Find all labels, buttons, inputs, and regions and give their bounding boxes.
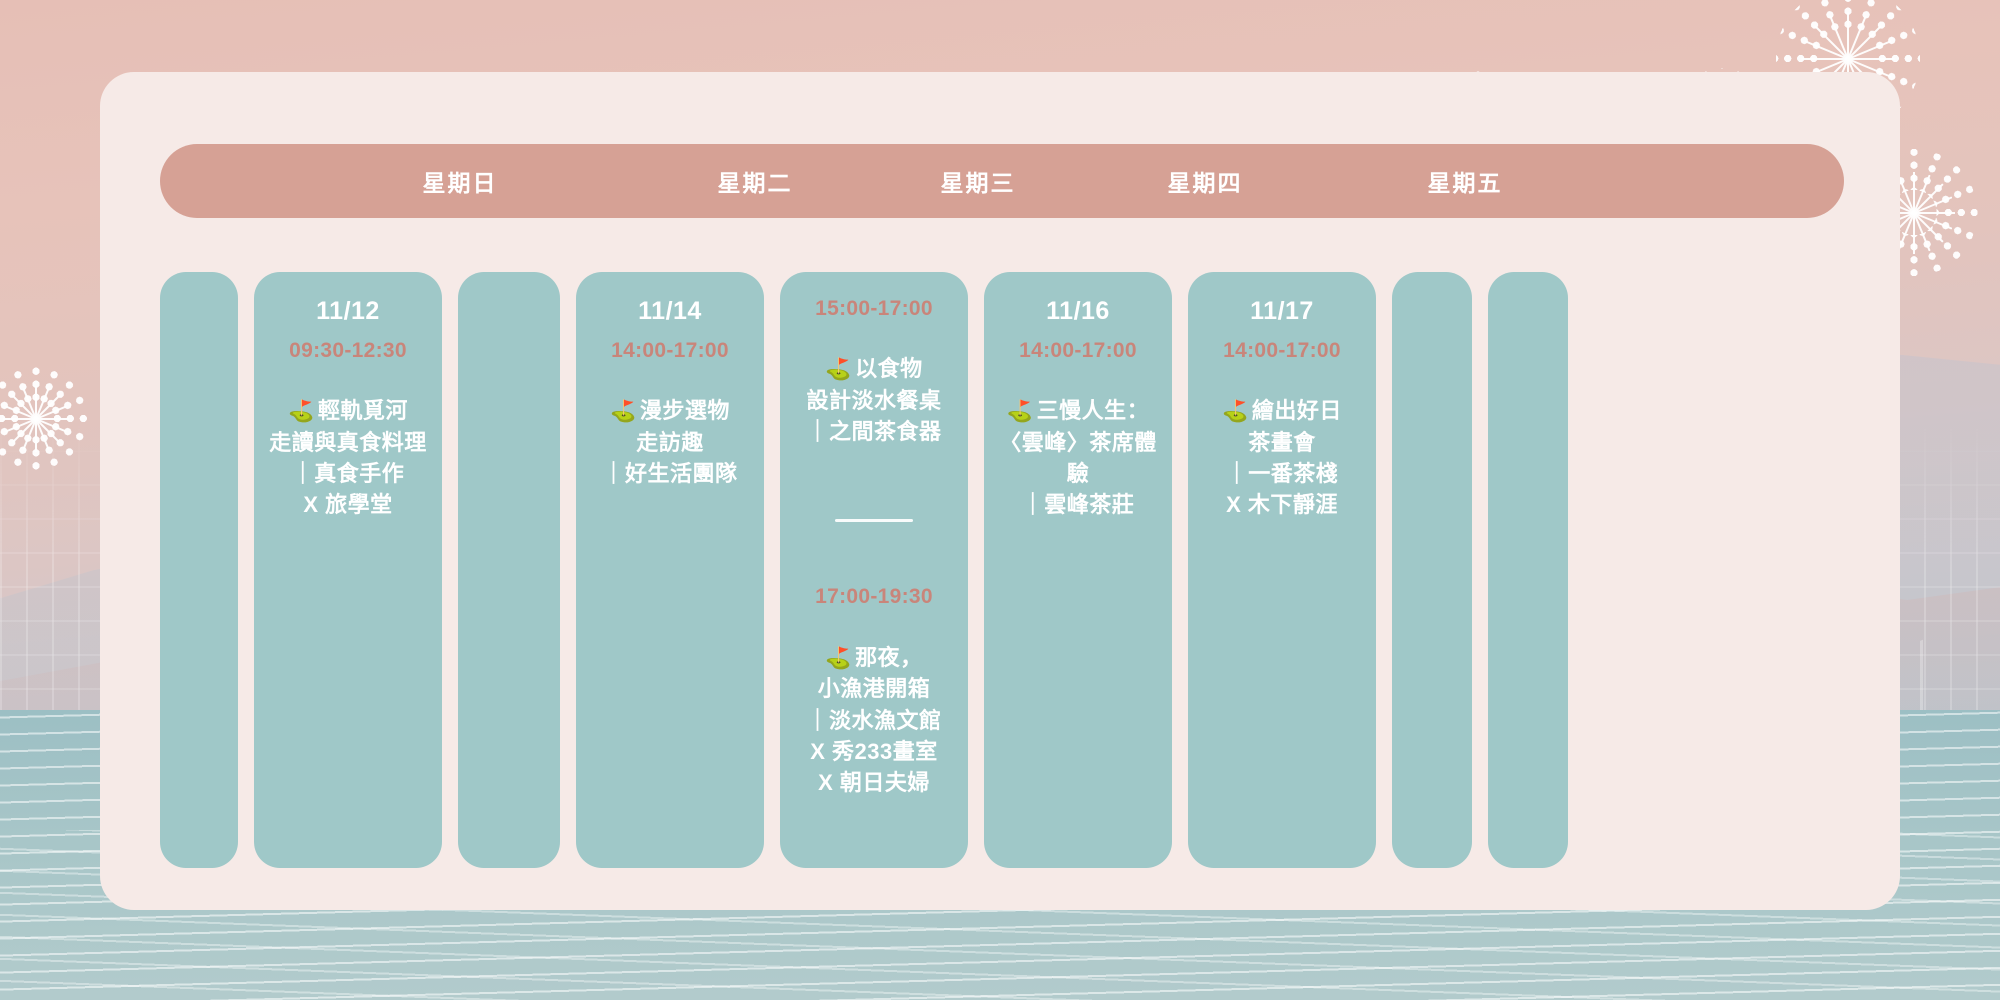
col-friday: 11/1714:00-17:00⛳繪出好日 茶畫會 ｜一番茶棧 X 木下靜涯	[1188, 272, 1376, 868]
event-title: ⛳輕軌覓河 走讀與真食料理 ｜真食手作 X 旅學堂	[264, 395, 432, 521]
event-item[interactable]: 15:00-17:00⛳以食物 設計淡水餐桌 ｜之間茶食器	[790, 296, 958, 447]
day-card-2[interactable]	[458, 272, 560, 868]
event-time: 17:00-19:30	[790, 584, 958, 609]
event-divider	[835, 519, 913, 522]
card-date: 11/17	[1198, 296, 1366, 326]
col-wednesday: 15:00-17:00⛳以食物 設計淡水餐桌 ｜之間茶食器17:00-19:30…	[780, 272, 968, 868]
event-time: 14:00-17:00	[994, 338, 1162, 363]
card-date: 11/14	[586, 296, 754, 326]
card-date: 11/12	[264, 296, 432, 326]
col-spacer-left	[160, 272, 238, 868]
golf-flag-icon: ⛳	[1007, 400, 1034, 423]
event-title: ⛳那夜， 小漁港開箱 ｜淡水漁文館 X 秀233畫室 X 朝日夫婦	[790, 642, 958, 799]
weekday-label-1: 星期二	[640, 144, 870, 218]
col-sunday: 11/1209:30-12:30⛳輕軌覓河 走讀與真食料理 ｜真食手作 X 旅學…	[254, 272, 442, 868]
weekday-label-3: 星期四	[1105, 144, 1305, 218]
day-card-8[interactable]	[1488, 272, 1568, 868]
golf-flag-icon: ⛳	[825, 647, 852, 670]
golf-flag-icon: ⛳	[610, 400, 637, 423]
event-title: ⛳三慢人生： 〈雲峰〉茶席體驗 ｜雲峰茶莊	[994, 395, 1162, 521]
day-card-0[interactable]	[160, 272, 238, 868]
day-card-4[interactable]: 15:00-17:00⛳以食物 設計淡水餐桌 ｜之間茶食器17:00-19:30…	[780, 272, 968, 868]
weekday-header-bar: 星期日星期二星期三星期四星期五	[160, 144, 1844, 218]
event-title: ⛳以食物 設計淡水餐桌 ｜之間茶食器	[790, 353, 958, 447]
weekday-label-0: 星期日	[340, 144, 580, 218]
golf-flag-icon: ⛳	[825, 358, 852, 381]
col-thursday: 11/1614:00-17:00⛳三慢人生： 〈雲峰〉茶席體驗 ｜雲峰茶莊	[984, 272, 1172, 868]
card-date: 11/16	[994, 296, 1162, 326]
col-monday	[458, 272, 560, 868]
event-item[interactable]: 14:00-17:00⛳繪出好日 茶畫會 ｜一番茶棧 X 木下靜涯	[1198, 338, 1366, 521]
golf-flag-icon: ⛳	[1222, 400, 1249, 423]
event-item[interactable]: 09:30-12:30⛳輕軌覓河 走讀與真食料理 ｜真食手作 X 旅學堂	[264, 338, 432, 521]
event-time: 15:00-17:00	[790, 296, 958, 321]
weekday-label-2: 星期三	[878, 144, 1078, 218]
event-title: ⛳繪出好日 茶畫會 ｜一番茶棧 X 木下靜涯	[1198, 395, 1366, 521]
golf-flag-icon: ⛳	[288, 400, 315, 423]
col-saturday	[1392, 272, 1472, 868]
day-card-5[interactable]: 11/1614:00-17:00⛳三慢人生： 〈雲峰〉茶席體驗 ｜雲峰茶莊	[984, 272, 1172, 868]
event-item[interactable]: 14:00-17:00⛳漫步選物 走訪趣 ｜好生活團隊	[586, 338, 754, 489]
day-card-6[interactable]: 11/1714:00-17:00⛳繪出好日 茶畫會 ｜一番茶棧 X 木下靜涯	[1188, 272, 1376, 868]
event-item[interactable]: 17:00-19:30⛳那夜， 小漁港開箱 ｜淡水漁文館 X 秀233畫室 X …	[790, 584, 958, 798]
event-title: ⛳漫步選物 走訪趣 ｜好生活團隊	[586, 395, 754, 489]
col-spacer-right	[1488, 272, 1568, 868]
event-time: 14:00-17:00	[1198, 338, 1366, 363]
col-tuesday: 11/1414:00-17:00⛳漫步選物 走訪趣 ｜好生活團隊	[576, 272, 764, 868]
schedule-board: 11/1209:30-12:30⛳輕軌覓河 走讀與真食料理 ｜真食手作 X 旅學…	[160, 272, 1844, 868]
day-card-3[interactable]: 11/1414:00-17:00⛳漫步選物 走訪趣 ｜好生活團隊	[576, 272, 764, 868]
schedule-poster: 星期日星期二星期三星期四星期五 11/1209:30-12:30⛳輕軌覓河 走讀…	[0, 0, 2000, 1000]
event-time: 09:30-12:30	[264, 338, 432, 363]
event-time: 14:00-17:00	[586, 338, 754, 363]
day-card-7[interactable]	[1392, 272, 1472, 868]
day-card-1[interactable]: 11/1209:30-12:30⛳輕軌覓河 走讀與真食料理 ｜真食手作 X 旅學…	[254, 272, 442, 868]
event-item[interactable]: 14:00-17:00⛳三慢人生： 〈雲峰〉茶席體驗 ｜雲峰茶莊	[994, 338, 1162, 521]
weekday-label-4: 星期五	[1360, 144, 1570, 218]
